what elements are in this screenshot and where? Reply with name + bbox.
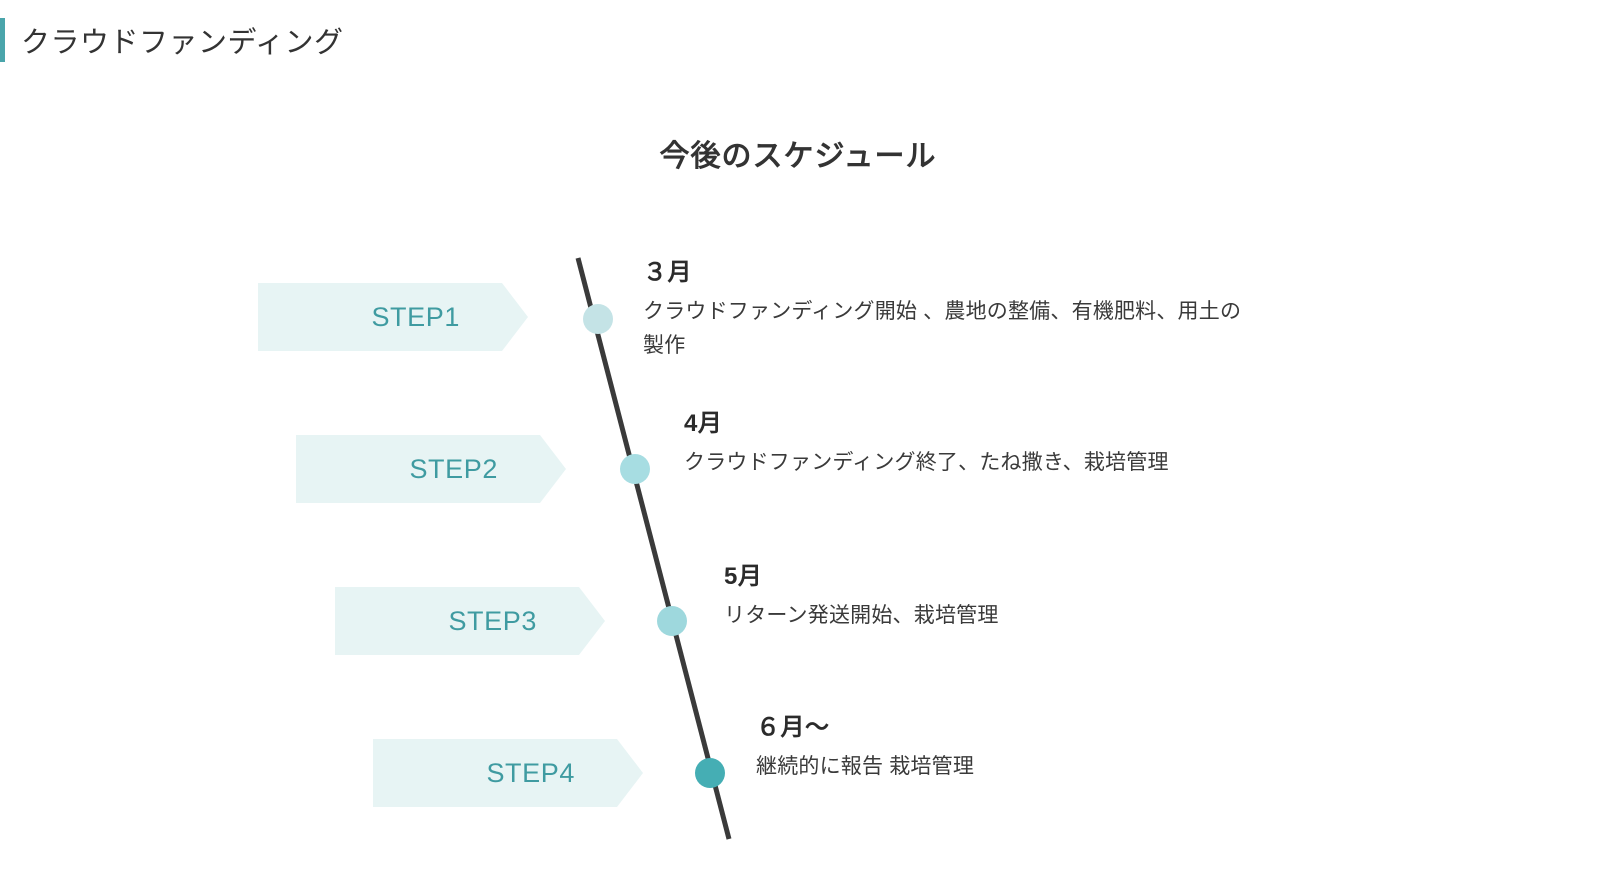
step-badge-2[interactable]: STEP2 [296,435,566,503]
step-badge-label-4: STEP4 [486,758,575,789]
step-description-4: 継続的に報告 栽培管理 [756,750,1356,784]
step-badge-1[interactable]: STEP1 [258,283,528,351]
timeline-node-2 [620,454,650,484]
step-month-2: 4月 [684,411,1284,437]
step-description-2: クラウドファンディング終了、たね撒き、栽培管理 [684,446,1284,480]
step-badge-4[interactable]: STEP4 [373,739,643,807]
schedule-timeline: STEP1 ３月 クラウドファンディング開始 、農地の整備、有機肥料、用土の製作… [0,0,1600,876]
step-content-1: ３月 クラウドファンディング開始 、農地の整備、有機肥料、用土の製作 [643,260,1243,363]
step-month-1: ３月 [643,260,1243,286]
timeline-node-4 [695,758,725,788]
step-description-3: リターン発送開始、栽培管理 [724,599,1324,633]
step-content-4: ６月〜 継続的に報告 栽培管理 [756,715,1356,784]
step-badge-label-3: STEP3 [448,606,537,637]
step-month-4: ６月〜 [756,715,1356,741]
step-badge-label-2: STEP2 [409,454,498,485]
timeline-node-1 [583,304,613,334]
step-description-1: クラウドファンディング開始 、農地の整備、有機肥料、用土の製作 [643,295,1243,363]
step-content-2: 4月 クラウドファンディング終了、たね撒き、栽培管理 [684,411,1284,480]
timeline-node-3 [657,606,687,636]
step-content-3: 5月 リターン発送開始、栽培管理 [724,564,1324,633]
step-badge-label-1: STEP1 [371,302,460,333]
step-badge-3[interactable]: STEP3 [335,587,605,655]
step-month-3: 5月 [724,564,1324,590]
